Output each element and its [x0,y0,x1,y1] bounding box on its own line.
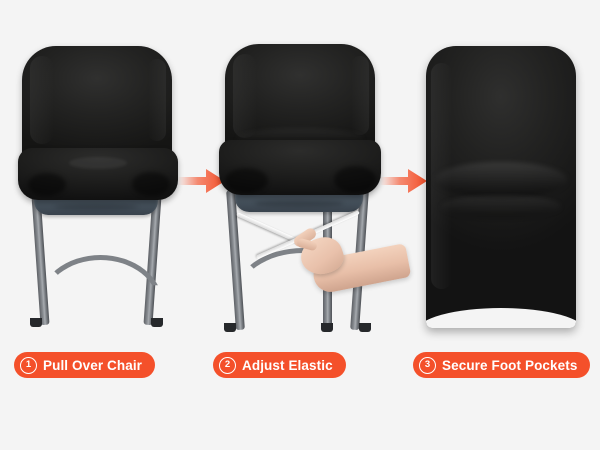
step-label-text-2: Adjust Elastic [242,358,333,373]
chair-foot-cap-right [359,323,371,332]
chair-foot-cap-left [30,318,42,327]
fabric-fold-shadow-right [132,172,170,196]
step-number-badge-1: 1 [20,357,37,374]
instruction-graphic: 1 Pull Over Chair 2 Adjust Elastic 3 Sec… [0,0,600,450]
chair-illustration-3 [408,40,598,345]
step-label-1[interactable]: 1 Pull Over Chair [14,352,155,378]
chair-foot-cap-right [151,318,163,327]
step-number-badge-3: 3 [419,357,436,374]
fabric-highlight-left [233,54,257,138]
step-label-3[interactable]: 3 Secure Foot Pockets [413,352,590,378]
fabric-fold-highlight [69,157,127,168]
step-panel-2 [205,40,395,345]
cover-skirt [219,140,381,195]
chair-leg-rear-left [226,190,245,330]
step-label-row: 1 Pull Over Chair 2 Adjust Elastic 3 Sec… [0,352,600,382]
chair-foot-cap-left [224,323,236,332]
step-label-text-3: Secure Foot Pockets [442,358,577,373]
cover-fitted-full [426,46,576,328]
fabric-seat-crease-lower [441,195,561,218]
chair-illustration-2 [205,40,395,345]
fabric-highlight-right [351,56,369,135]
step-label-text-1: Pull Over Chair [43,358,142,373]
fabric-fold-shadow [225,168,267,193]
step-panel-1 [8,40,198,345]
step-number-badge-2: 2 [219,357,236,374]
fabric-seat-crease [435,162,567,199]
cover-skirt [18,148,178,200]
fabric-highlight-left [30,56,54,144]
chair-illustration-1 [8,40,198,345]
cover-bottom-arch [426,308,576,328]
fabric-fold-shadow-right [334,166,376,192]
chair-crossbar [38,255,163,305]
fabric-highlight-right [148,59,166,142]
step-label-2[interactable]: 2 Adjust Elastic [213,352,346,378]
fabric-fold-shadow [28,173,66,196]
chair-foot-cap-center [321,323,333,332]
step-panel-3 [408,40,598,345]
